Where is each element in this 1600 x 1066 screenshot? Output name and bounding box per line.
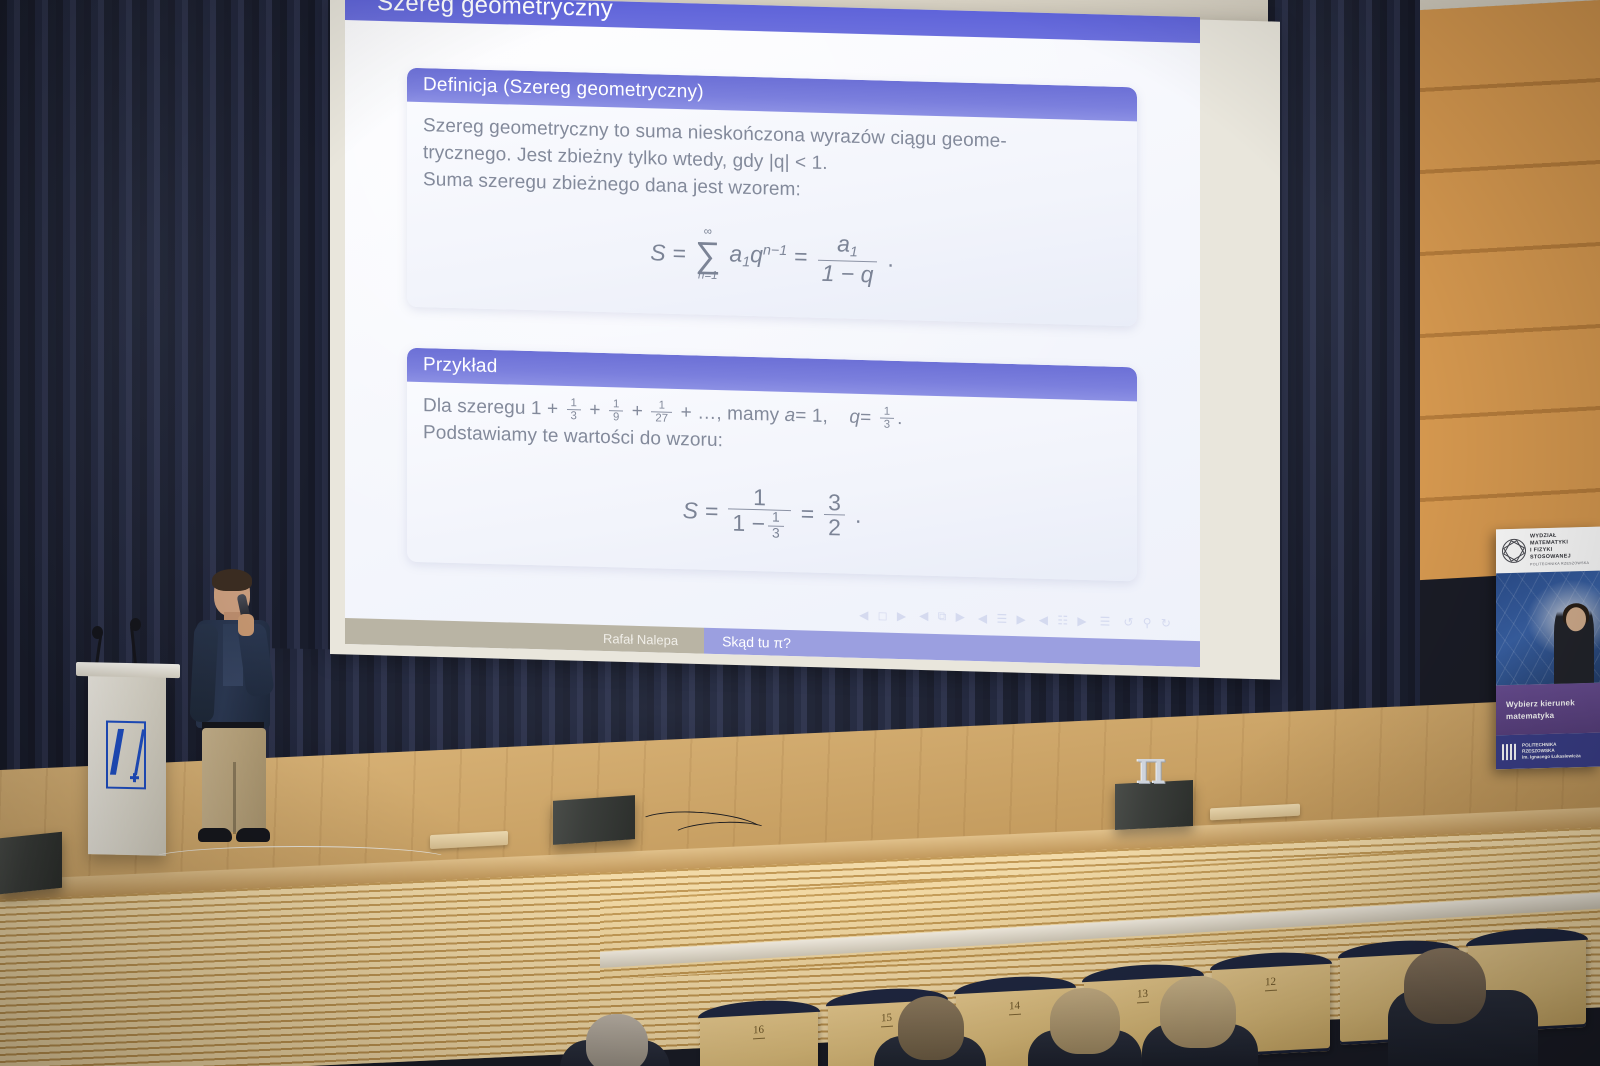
example-period: . <box>855 502 861 529</box>
seat-number-14: 14 <box>1009 1000 1021 1016</box>
university-small-line: im. Ignacego Łukasiewicza <box>1522 753 1581 761</box>
banner-university-text: POLITECHNIKA RZESZOWSKA im. Ignacego Łuk… <box>1522 741 1581 761</box>
banner-photo <box>1496 571 1600 686</box>
example-denominator: 1 −13 <box>728 509 790 542</box>
presenter-right-shoe <box>236 828 270 842</box>
presenter <box>186 572 278 850</box>
faculty-small-line: POLITECHNIKA RZESZOWSKA <box>1530 559 1594 568</box>
formula-equals-1: = <box>673 240 686 267</box>
curtain-right <box>1268 0 1420 790</box>
result-denominator: 2 <box>824 514 845 540</box>
example-block-title: Przykład <box>407 354 497 378</box>
banner-cta-line-1: Wybierz kierunek <box>1506 697 1600 708</box>
nav-list-icon[interactable]: ☰ <box>1100 614 1114 628</box>
presenter-left-shoe <box>198 828 232 842</box>
presenter-left-arm <box>189 623 218 722</box>
lecture-hall-photo: Szereg geometryczny Definicja (Szereg ge… <box>0 0 1600 1066</box>
seat-number-16: 16 <box>753 1024 765 1040</box>
nav-frame-icon[interactable]: ◀ ◻ ▶ <box>859 607 909 622</box>
banner-faculty-text: WYDZIAŁ MATEMATYKI I FIZYKI STOSOWANEJ P… <box>1530 531 1594 568</box>
prz-logo-icon <box>106 721 146 790</box>
formula-period: . <box>887 246 893 273</box>
nav-back-search-forward-icon[interactable]: ↺ ⚲ ↻ <box>1123 615 1174 630</box>
stage-monitor-speaker-left <box>0 832 62 895</box>
example-block: Przykład Dla szeregu 1 + 13 + 19 + 127 +… <box>407 348 1137 581</box>
example-equals-2: = <box>801 501 814 528</box>
audience-head-2 <box>898 996 964 1060</box>
banner-header: WYDZIAŁ MATEMATYKI I FIZYKI STOSOWANEJ P… <box>1496 527 1600 574</box>
example-equals-1: = <box>705 498 718 525</box>
audience-head-4 <box>1160 976 1236 1048</box>
summand: a1qn−1 <box>729 241 787 272</box>
definition-block: Definicja (Szereg geometryczny) Szereg g… <box>407 68 1137 327</box>
seat-16: 16 <box>700 1007 818 1066</box>
example-main-fraction: 1 1 −13 <box>728 484 790 541</box>
result-numerator: 3 <box>824 490 845 515</box>
geometric-series-formula: S = ∞ ∑ n=1 a1qn−1 = a1 1 − q <box>423 219 1121 294</box>
formula-equals-2: = <box>794 244 807 271</box>
formula-lhs: S <box>650 240 665 267</box>
banner-cta-line-2: matematyka <box>1506 709 1600 720</box>
nav-doc-icon[interactable]: ◀ ☷ ▶ <box>1039 612 1090 627</box>
lectern <box>88 674 166 856</box>
summation-symbol: ∞ ∑ n=1 <box>695 226 720 282</box>
definition-block-title: Definicja (Szereg geometryczny) <box>407 74 704 104</box>
stage-monitor-speaker-center <box>553 795 635 845</box>
slide-title: Szereg geometryczny <box>345 0 613 24</box>
lectern-top-surface <box>76 662 180 678</box>
sigma-glyph: ∑ <box>695 238 720 271</box>
presenter-hand <box>238 614 254 636</box>
audience-head-5 <box>1404 948 1486 1024</box>
rollup-banner: WYDZIAŁ MATEMATYKI I FIZYKI STOSOWANEJ P… <box>1496 527 1600 770</box>
sum-lower-limit: n=1 <box>698 271 718 283</box>
pi-sculpture: π <box>1136 750 1176 786</box>
seat-number-13: 13 <box>1137 988 1149 1004</box>
formula-fraction: a1 1 − q <box>818 231 878 287</box>
definition-block-body: Szereg geometryczny to suma nieskończona… <box>407 102 1137 327</box>
audience-head-1 <box>586 1014 648 1066</box>
fraction-numerator: a1 <box>833 231 862 260</box>
nav-section-icon[interactable]: ◀ ☰ ▶ <box>978 611 1029 626</box>
fraction-denominator: 1 − q <box>818 259 878 286</box>
seat-number-15: 15 <box>881 1012 893 1028</box>
presenter-hair <box>212 569 252 591</box>
nav-subsection-icon[interactable]: ◀ ⧉ ▶ <box>919 609 968 625</box>
example-result-fraction: 3 2 <box>824 490 845 540</box>
presentation-slide: Szereg geometryczny Definicja (Szereg ge… <box>345 0 1200 667</box>
example-result-formula: S = 1 1 −13 = 3 2 . <box>423 476 1121 550</box>
example-lhs: S <box>683 497 698 524</box>
banner-call-to-action: Wybierz kierunek matematyka <box>1496 683 1600 736</box>
presenter-leg-seam <box>233 762 236 834</box>
banner-university-footer: POLITECHNIKA RZESZOWSKA im. Ignacego Łuk… <box>1496 733 1600 770</box>
beamer-navigation-bar[interactable]: ◀ ◻ ▶ ◀ ⧉ ▶ ◀ ☰ ▶ ◀ ☷ ▶ ☰ ↺ ⚲ ↻ <box>859 607 1174 631</box>
example-block-body: Dla szeregu 1 + 13 + 19 + 127 + …, mamy … <box>407 382 1137 581</box>
faculty-emblem-icon <box>1502 539 1526 564</box>
stage-cable-white <box>150 846 450 872</box>
seat-number-12: 12 <box>1265 976 1277 992</box>
example-numerator: 1 <box>749 485 770 510</box>
audience-head-3 <box>1050 988 1120 1054</box>
university-logo-icon <box>1502 744 1518 760</box>
